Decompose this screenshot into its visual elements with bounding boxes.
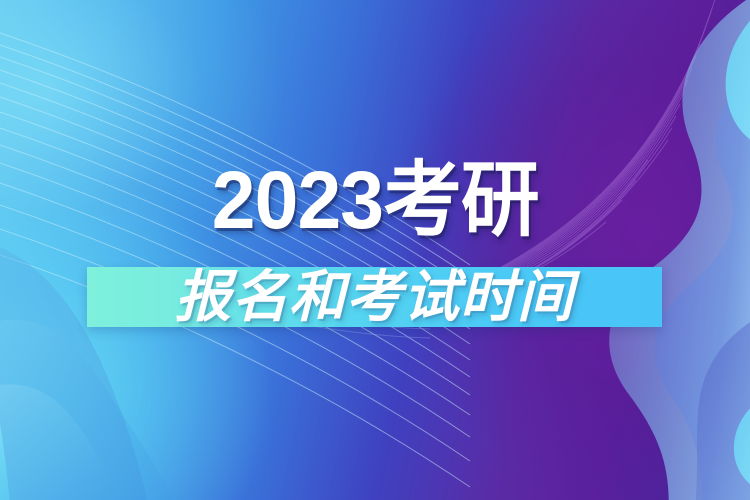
banner-subtitle-text: 报名和考试时间 [175,269,574,325]
wave-blob-right [0,0,750,500]
banner-title-text: 2023考研 [212,160,539,242]
banner-subtitle: 报名和考试时间 [87,267,662,327]
banner-title: 2023考研 [0,160,750,242]
promo-banner: 2023考研 报名和考试时间 [0,0,750,500]
